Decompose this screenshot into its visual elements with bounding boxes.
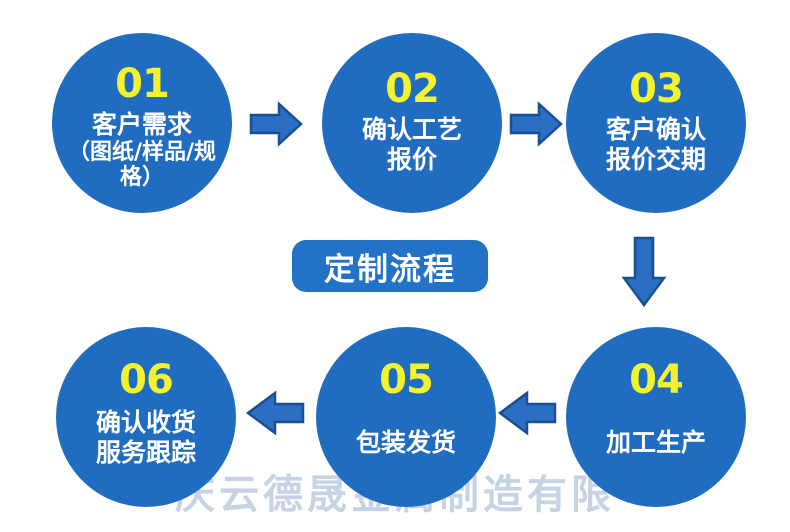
- step-05-label-line1: 包装发货: [356, 428, 456, 458]
- flowchart-canvas: 庆云德晟金属制造有限 01 客户需求 （图纸/样品/规格） 02 确认工艺 报价…: [0, 0, 790, 532]
- step-06-label-line2: 服务跟踪: [96, 438, 196, 468]
- step-05-label: 包装发货: [356, 428, 456, 458]
- step-03-number: 03: [629, 69, 683, 109]
- step-03-label-line1: 客户确认: [606, 115, 706, 145]
- arrow-right-icon: [509, 101, 563, 147]
- step-06-label-line1: 确认收货: [96, 408, 196, 438]
- step-01-label-line2: （图纸/样品/规格）: [52, 140, 232, 192]
- arrow-03-to-04: [621, 236, 667, 308]
- step-01-label-line1: 客户需求: [52, 110, 232, 140]
- step-06-number: 06: [119, 360, 173, 400]
- step-04-label: 加工生产: [606, 428, 706, 458]
- center-title-badge: 定制流程: [292, 240, 488, 292]
- step-01-number: 01: [115, 64, 169, 104]
- arrow-left-icon: [497, 390, 557, 436]
- step-05-number: 05: [379, 360, 433, 400]
- step-06-label: 确认收货 服务跟踪: [96, 408, 196, 467]
- arrow-02-to-03: [509, 101, 563, 147]
- step-01-label: 客户需求 （图纸/样品/规格）: [52, 110, 232, 191]
- step-02-label-line1: 确认工艺: [362, 115, 462, 145]
- arrow-05-to-06: [245, 390, 305, 436]
- step-03-label: 客户确认 报价交期: [606, 115, 706, 174]
- step-02-label: 确认工艺 报价: [362, 115, 462, 174]
- step-06-receipt-followup[interactable]: 06 确认收货 服务跟踪: [56, 327, 236, 507]
- step-04-production[interactable]: 04 加工生产: [566, 327, 746, 507]
- step-02-number: 02: [385, 69, 439, 109]
- arrow-01-to-02: [249, 101, 303, 147]
- step-04-number: 04: [629, 360, 683, 400]
- step-02-label-line2: 报价: [362, 145, 462, 175]
- step-03-customer-confirm[interactable]: 03 客户确认 报价交期: [566, 33, 746, 213]
- arrow-right-icon: [249, 101, 303, 147]
- step-05-packing-shipping[interactable]: 05 包装发货: [316, 327, 496, 507]
- arrow-down-icon: [621, 236, 667, 308]
- step-04-label-line1: 加工生产: [606, 428, 706, 458]
- center-title-label: 定制流程: [324, 244, 456, 289]
- arrow-left-icon: [245, 390, 305, 436]
- step-03-label-line2: 报价交期: [606, 145, 706, 175]
- step-01-customer-requirements[interactable]: 01 客户需求 （图纸/样品/规格）: [52, 33, 232, 213]
- step-02-confirm-process[interactable]: 02 确认工艺 报价: [322, 33, 502, 213]
- arrow-04-to-05: [497, 390, 557, 436]
